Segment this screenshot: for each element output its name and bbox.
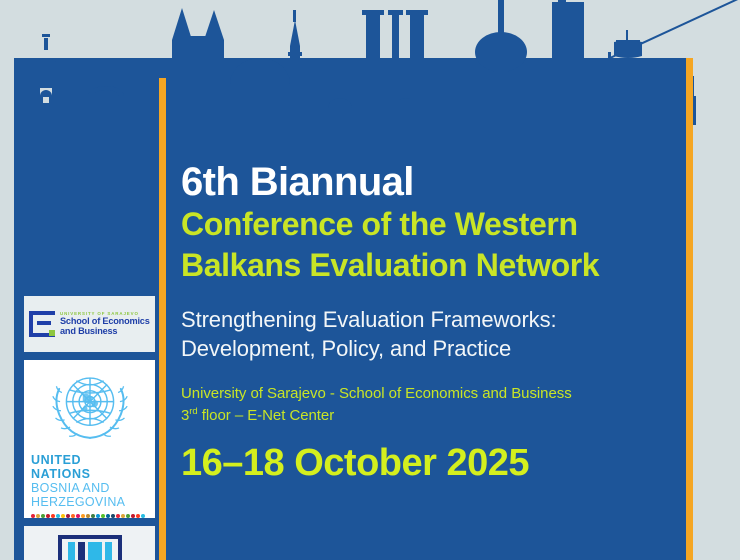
subtitle-line-2: Development, Policy, and Practice [181, 334, 686, 363]
orange-accent-bar-left [159, 78, 166, 560]
subtitle-line-1: Strengthening Evaluation Frameworks: [181, 305, 686, 334]
partner-logos-column: UNIVERSITY OF SARAJEVO School of Economi… [24, 296, 155, 560]
united-nations-emblem-icon [44, 369, 136, 447]
un-label-line4: HERZEGOVINA [31, 495, 148, 509]
poster-subtitle: Strengthening Evaluation Frameworks: Dev… [181, 305, 686, 364]
title-line-1: 6th Biannual [181, 160, 686, 204]
logo-school-of-economics-and-business: UNIVERSITY OF SARAJEVO School of Economi… [24, 296, 155, 352]
sdg-color-dots [31, 514, 148, 518]
logo-united-nations-bih: UNITED NATIONS BOSNIA AND HERZEGOVINA [24, 360, 155, 518]
un-label-line1: UNITED [31, 453, 148, 467]
un-label-line3: BOSNIA AND [31, 481, 148, 495]
title-line-3: Balkans Evaluation Network [181, 245, 686, 286]
poster-text-content: 6th Biannual Conference of the Western B… [181, 160, 686, 485]
partner-emblem-icon [58, 535, 122, 560]
seb-emblem-icon [29, 311, 55, 337]
poster-venue: University of Sarajevo - School of Econo… [181, 383, 686, 427]
conference-dates: 16–18 October 2025 [181, 443, 686, 485]
seb-name-line2: and Business [60, 327, 150, 337]
orange-accent-bar-right [686, 58, 693, 560]
venue-floor-ordinal-suffix: rd [189, 406, 197, 417]
title-line-2: Conference of the Western [181, 204, 686, 245]
venue-line-2: 3rd floor – E-Net Center [181, 405, 686, 427]
conference-poster: UNIVERSITY OF SARAJEVO School of Economi… [0, 0, 740, 560]
un-label-line2: NATIONS [31, 467, 148, 481]
venue-floor-rest: floor – E-Net Center [198, 407, 335, 424]
logo-partner-cropped [24, 526, 155, 560]
venue-line-1: University of Sarajevo - School of Econo… [181, 383, 686, 405]
seb-logo-text: UNIVERSITY OF SARAJEVO School of Economi… [60, 312, 150, 337]
